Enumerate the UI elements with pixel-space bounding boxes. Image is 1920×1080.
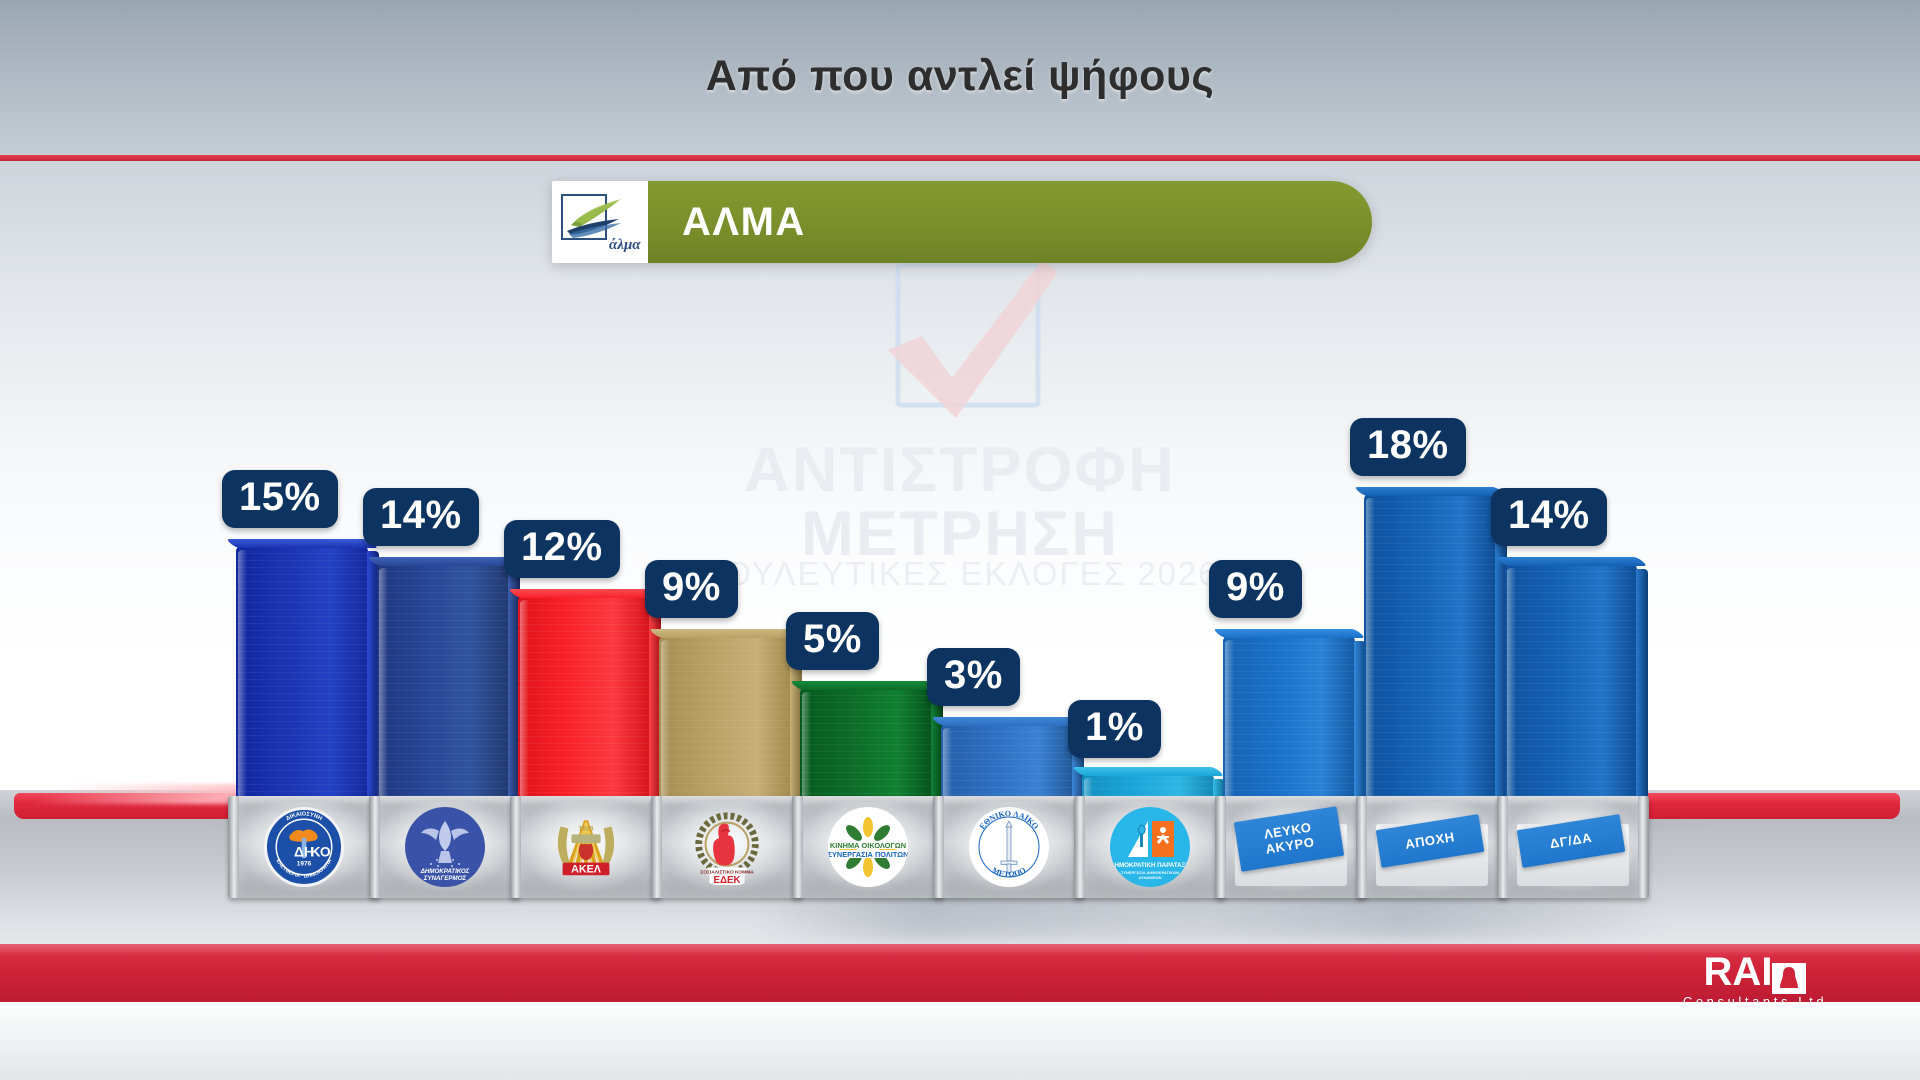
bar-oikologoi — [800, 688, 932, 796]
pedestal-diko: ΔΗ ΚΟ 1976 ΔΙΚΑΙΟΣΥΝΗ ΕΛΕΥΘΕΡΙΑ · ΔΗΜΟΚΡ… — [228, 796, 380, 898]
pedestal-oikologoi: ΚΙΝΗΜΑ ΟΙΚΟΛΟΓΩΝ ΣΥΝΕΡΓΑΣΙΑ ΠΟΛΙΤΩΝ — [792, 796, 944, 898]
pedestal-akel: ΑΚΕΛ 1926 — [510, 796, 662, 898]
pedestal-elam: ΕΘΝΙΚΟ ΛΑΪΚΟ ΜΕΤΩΠΟ — [933, 796, 1085, 898]
bar-elam — [941, 724, 1073, 796]
pedestal-disy: ΔΗΜΟΚΡΑΤΙΚΟΣ ΣΥΝΑΓΕΡΜΟΣ — [369, 796, 521, 898]
rai-n-glyph-icon — [1772, 961, 1806, 992]
bar-chart: 15% ΔΗ ΚΟ 1976 — [0, 0, 1920, 1080]
pedestal-dipa: ΔΗΜΟΚΡΑΤΙΚΗ ΠΑΡΑΤΑΞΗ ΣΥΝΕΡΓΑΣΙΑ ΔΗΜΟΚΡΑΤ… — [1074, 796, 1226, 898]
pedestal-lefko-akyro: ΛΕΥΚΟ ΑΚΥΡΟ — [1215, 796, 1367, 898]
pedestal-edek: ΣΟΣΙΑΛΙΣΤΙΚΟ ΚΟΜΜΑ ΕΔΕΚ — [651, 796, 803, 898]
bar-dg-da — [1505, 564, 1637, 796]
bar-value-badge-elam: 3% — [927, 648, 1020, 706]
bar-dipa — [1082, 774, 1214, 796]
diko-year: 1976 — [297, 861, 312, 868]
dipa-logo: ΔΗΜΟΚΡΑΤΙΚΗ ΠΑΡΑΤΑΞΗ ΣΥΝΕΡΓΑΣΙΑ ΔΗΜΟΚΡΑΤ… — [1088, 803, 1212, 891]
disy-line1: ΔΗΜΟΚΡΑΤΙΚΟΣ — [420, 868, 470, 875]
bar-akel — [518, 596, 650, 796]
akel-name: ΑΚΕΛ — [571, 863, 602, 875]
footer-band-highlight — [0, 944, 1920, 956]
edek-name: ΕΔΕΚ — [713, 875, 740, 886]
bar-apochi — [1364, 494, 1496, 796]
diko-logo: ΔΗ ΚΟ 1976 ΔΙΚΑΙΟΣΥΝΗ ΕΛΕΥΘΕΡΙΑ · ΔΗΜΟΚΡ… — [242, 803, 366, 891]
pedestal-dg-da: ΔΓ/ΔΑ — [1497, 796, 1649, 898]
greens-line2: ΣΥΝΕΡΓΑΣΙΑ ΠΟΛΙΤΩΝ — [828, 850, 908, 859]
bar-edek — [659, 636, 791, 796]
ballot-card-line-1: ΔΓ/ΔΑ — [1549, 830, 1593, 851]
bar-lefko-akyro — [1223, 636, 1355, 796]
bar-value-badge-disy: 14% — [363, 488, 479, 546]
dipa-line1: ΔΗΜΟΚΡΑΤΙΚΗ ΠΑΡΑΤΑΞΗ — [1110, 862, 1190, 869]
svg-text:ΔΥΝΑΜΕΩΝ: ΔΥΝΑΜΕΩΝ — [1138, 875, 1161, 880]
disy-logo: ΔΗΜΟΚΡΑΤΙΚΟΣ ΣΥΝΑΓΕΡΜΟΣ — [383, 803, 507, 891]
rai-subtitle: Consultants Ltd — [1655, 994, 1855, 1009]
akel-logo: ΑΚΕΛ 1926 — [524, 803, 648, 891]
edek-logo: ΣΟΣΙΑΛΙΣΤΙΚΟ ΚΟΜΜΑ ΕΔΕΚ — [665, 803, 789, 891]
rai-consultants-logo: RAI Consultants Ltd — [1655, 952, 1855, 1010]
svg-text:ΚΟ: ΚΟ — [311, 843, 331, 859]
ballot-card-line-1: ΑΠΟΧΗ — [1404, 830, 1456, 852]
bar-value-badge-edek: 9% — [645, 560, 738, 618]
elam-logo: ΕΘΝΙΚΟ ΛΑΪΚΟ ΜΕΤΩΠΟ — [947, 803, 1071, 891]
bar-value-badge-lefko-akyro: 9% — [1209, 560, 1302, 618]
greens-line1: ΚΙΝΗΜΑ ΟΙΚΟΛΟΓΩΝ — [830, 841, 906, 850]
bar-value-badge-oikologoi: 5% — [786, 612, 879, 670]
greens-logo: ΚΙΝΗΜΑ ΟΙΚΟΛΟΓΩΝ ΣΥΝΕΡΓΑΣΙΑ ΠΟΛΙΤΩΝ — [806, 803, 930, 891]
disy-line2: ΣΥΝΑΓΕΡΜΟΣ — [423, 875, 467, 882]
akel-year: 1926 — [578, 825, 593, 832]
bar-value-badge-dipa: 1% — [1068, 700, 1161, 758]
bar-value-badge-apochi: 18% — [1350, 418, 1466, 476]
bar-diko — [236, 546, 368, 796]
bar-value-badge-dg-da: 14% — [1491, 488, 1607, 546]
rai-brand: RAI — [1704, 952, 1773, 992]
bar-value-badge-akel: 12% — [504, 520, 620, 578]
bar-disy — [377, 564, 509, 796]
pedestal-apochi: ΑΠΟΧΗ — [1356, 796, 1508, 898]
bar-value-badge-diko: 15% — [222, 470, 338, 528]
